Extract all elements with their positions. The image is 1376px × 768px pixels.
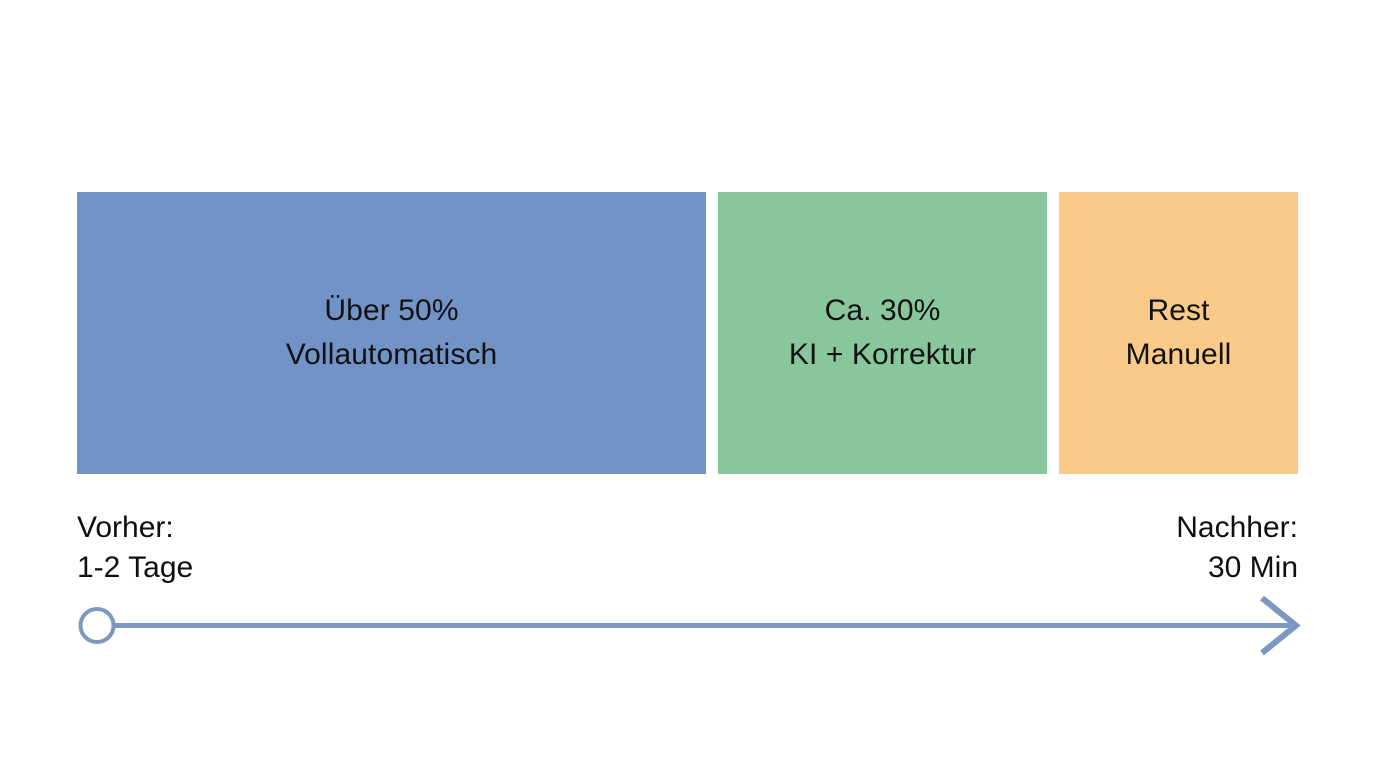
timeline-start-caption: Vorher: 1-2 Tage — [77, 508, 193, 588]
segment-manuell[interactable]: Rest Manuell — [1059, 192, 1298, 474]
timeline-start-label: Vorher: — [77, 508, 193, 548]
segment-manuell-line1: Rest — [1147, 289, 1209, 333]
segment-ki-korrektur-line1: Ca. 30% — [825, 289, 941, 333]
timeline-end-label: Nachher: — [1176, 508, 1298, 548]
segment-vollautomatisch[interactable]: Über 50% Vollautomatisch — [77, 192, 706, 474]
slide-canvas: Über 50% Vollautomatisch Ca. 30% KI + Ko… — [0, 0, 1376, 768]
segment-ki-korrektur-line2: KI + Korrektur — [789, 333, 976, 377]
segment-vollautomatisch-line2: Vollautomatisch — [286, 333, 498, 377]
circle-marker-icon[interactable] — [81, 609, 114, 642]
segment-manuell-line2: Manuell — [1126, 333, 1232, 377]
process-segment-bar: Über 50% Vollautomatisch Ca. 30% KI + Ko… — [77, 192, 1298, 474]
timeline-start-value: 1-2 Tage — [77, 548, 193, 588]
timeline-end-value: 30 Min — [1176, 548, 1298, 588]
segment-ki-korrektur[interactable]: Ca. 30% KI + Korrektur — [718, 192, 1047, 474]
segment-vollautomatisch-line1: Über 50% — [324, 289, 458, 333]
timeline-axis — [70, 596, 1310, 658]
timeline-end-caption: Nachher: 30 Min — [1176, 508, 1298, 588]
